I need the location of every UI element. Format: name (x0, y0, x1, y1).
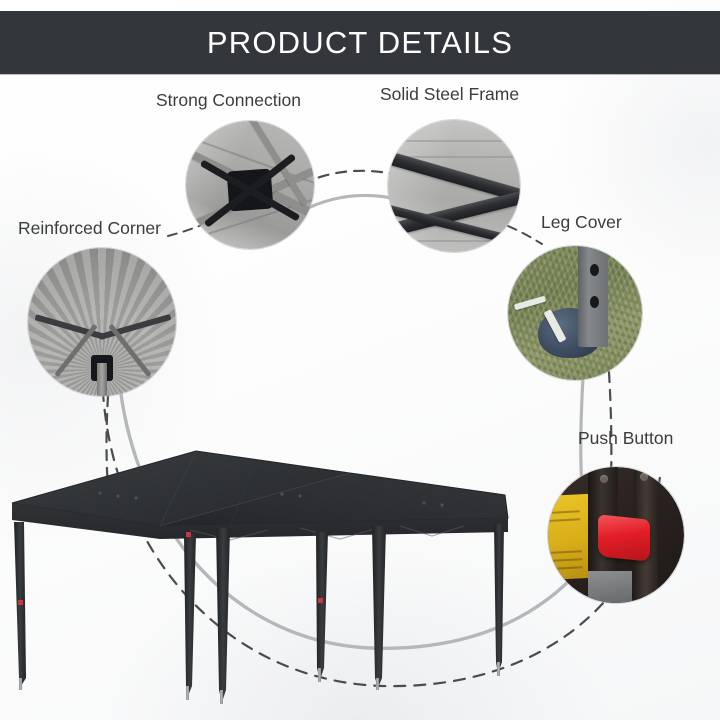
leg-marker (18, 600, 23, 605)
callout-label-solid-steel-frame: Solid Steel Frame (380, 84, 519, 105)
gazebo-leg (494, 524, 504, 674)
callout-image-solid-steel-frame (388, 120, 520, 252)
callout-image-push-button (548, 467, 684, 603)
gazebo-legs (14, 522, 504, 704)
callout-image-strong-connection (186, 121, 314, 249)
callout-label-leg-cover: Leg Cover (541, 212, 622, 233)
callout-label-push-button: Push Button (578, 428, 673, 449)
push-button-photo (548, 467, 684, 603)
header-banner: PRODUCT DETAILS (0, 11, 720, 74)
dashed-link-top (302, 171, 394, 184)
ground-stake (514, 296, 546, 311)
leg-marker (318, 598, 323, 603)
callout-image-reinforced-corner (28, 248, 176, 396)
red-push-button (598, 514, 650, 561)
callout-label-reinforced-corner: Reinforced Corner (18, 218, 161, 239)
solid-steel-frame-photo (388, 120, 520, 252)
centre-pole (97, 363, 107, 396)
leg-marker (186, 532, 191, 537)
callout-label-strong-connection: Strong Connection (156, 90, 301, 111)
corner-arm (108, 324, 151, 378)
leg-sleeve (588, 571, 632, 603)
page-title: PRODUCT DETAILS (207, 25, 513, 61)
strong-connection-photo (186, 121, 314, 249)
connector-hub (227, 169, 274, 212)
gazebo-leg (316, 532, 328, 680)
leg-cover-photo (508, 246, 642, 380)
gazebo-leg (184, 534, 196, 696)
gazebo-leg (372, 526, 386, 688)
callout-image-leg-cover (508, 246, 642, 380)
reinforced-corner-photo (28, 248, 176, 396)
product-image-gazebo (0, 440, 540, 720)
gazebo-leg (216, 528, 230, 702)
gazebo-leg-post (578, 246, 608, 347)
product-details-infographic: PRODUCT DETAILS Strong Connection Solid … (0, 0, 720, 720)
